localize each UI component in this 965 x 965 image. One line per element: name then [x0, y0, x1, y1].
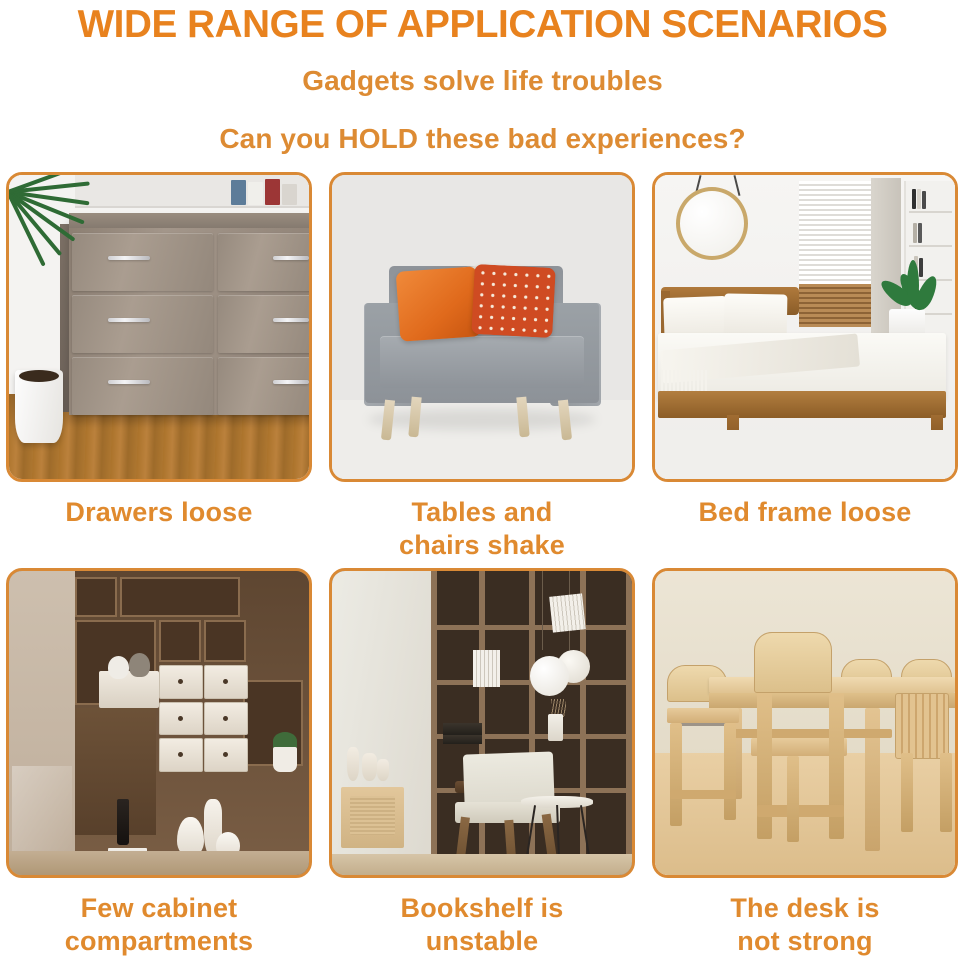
scenario-caption: Drawers loose: [65, 496, 252, 529]
caption-line-1: The desk is: [730, 893, 879, 923]
caption-line-1: Few cabinet: [81, 893, 238, 923]
bed-scene-image: [655, 175, 955, 479]
caption-line-1: Tables and: [411, 497, 552, 527]
dresser-scene-image: [9, 175, 309, 479]
desk-chairs-scene-image: [655, 571, 955, 875]
caption-line-2: compartments: [65, 926, 253, 956]
scenario-caption: Tables and chairs shake: [399, 496, 565, 562]
scenario-image-card[interactable]: [6, 568, 312, 878]
scenario-caption: Bed frame loose: [698, 496, 911, 529]
scenario-cell-drawers-loose[interactable]: Drawers loose: [6, 172, 312, 529]
scenario-row-2: Few cabinet compartments: [6, 568, 959, 958]
scenario-image-card[interactable]: [652, 172, 958, 482]
scenario-cell-few-cabinet-compartments[interactable]: Few cabinet compartments: [6, 568, 312, 958]
caption-line-1: Bookshelf is: [401, 893, 564, 923]
scenario-cell-bed-frame-loose[interactable]: Bed frame loose: [652, 172, 958, 529]
header: WIDE RANGE OF APPLICATION SCENARIOS Gadg…: [0, 0, 965, 156]
subtitle-primary: Gadgets solve life troubles: [0, 64, 965, 98]
scenario-caption: The desk is not strong: [730, 892, 879, 958]
caption-line-2: chairs shake: [399, 530, 565, 560]
cabinet-scene-image: [9, 571, 309, 875]
scenario-cell-desk-not-strong[interactable]: The desk is not strong: [652, 568, 958, 958]
caption-line-2: not strong: [737, 926, 872, 956]
scenario-grid: Drawers loose: [6, 172, 959, 958]
scenario-image-card[interactable]: [329, 568, 635, 878]
promo-page: WIDE RANGE OF APPLICATION SCENARIOS Gadg…: [0, 0, 965, 965]
scenario-row-1: Drawers loose: [6, 172, 959, 562]
scenario-image-card[interactable]: [652, 568, 958, 878]
caption-line-2: unstable: [426, 926, 539, 956]
scenario-image-card[interactable]: [329, 172, 635, 482]
page-title: WIDE RANGE OF APPLICATION SCENARIOS: [5, 2, 960, 48]
scenario-caption: Few cabinet compartments: [65, 892, 253, 958]
bookshelf-scene-image: [332, 571, 632, 875]
scenario-cell-bookshelf-unstable[interactable]: Bookshelf is unstable: [329, 568, 635, 958]
scenario-caption: Bookshelf is unstable: [401, 892, 564, 958]
scenario-image-card[interactable]: [6, 172, 312, 482]
armchair-scene-image: [332, 175, 632, 479]
scenario-cell-tables-chairs-shake[interactable]: Tables and chairs shake: [329, 172, 635, 562]
subtitle-question: Can you HOLD these bad experiences?: [0, 122, 965, 156]
